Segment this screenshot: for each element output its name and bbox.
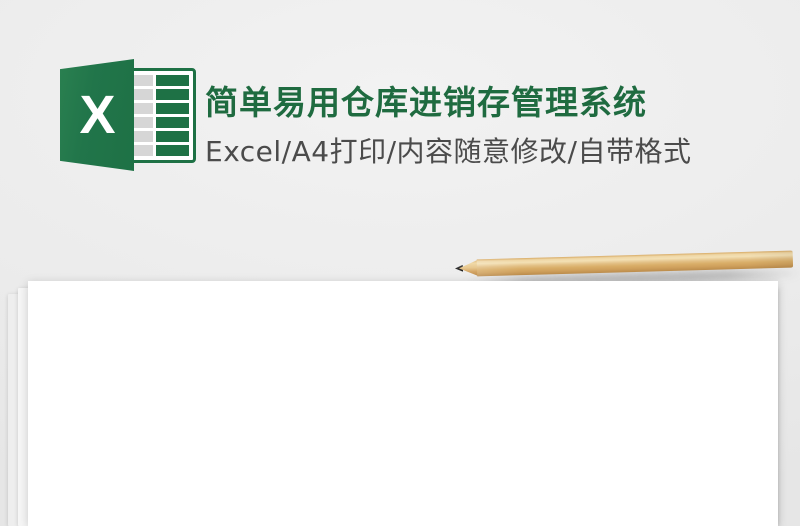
excel-letter-x: X [60,59,134,171]
page-title: 简单易用仓库进销存管理系统 [205,76,647,124]
header-banner: X 简单易用仓库进销存管理系统 Excel/A4打印/内容随意修改/自带格式 [0,0,800,200]
preview-card: 简单易用仓库进销存管理系统 基础资料 入库明细 出库明细 [28,281,778,526]
excel-logo-icon: X [60,59,196,171]
page-subtitle: Excel/A4打印/内容随意修改/自带格式 [205,130,691,170]
screenshot-canvas: X 简单易用仓库进销存管理系统 Excel/A4打印/内容随意修改/自带格式 简… [0,0,800,526]
excel-logo-panel: X [60,59,134,171]
